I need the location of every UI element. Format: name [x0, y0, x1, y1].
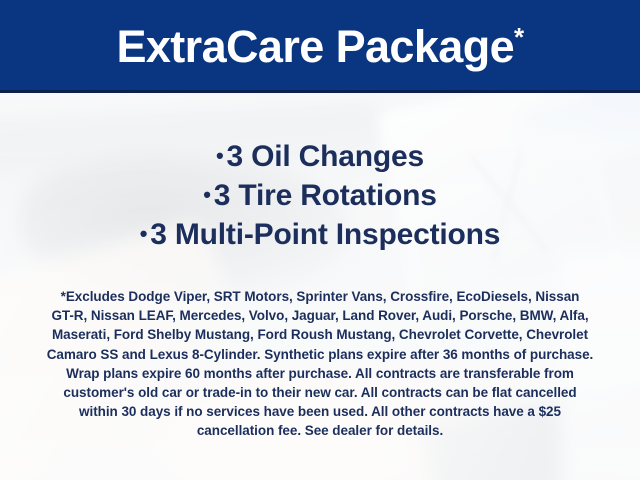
disclaimer-line: Maserati, Ford Shelby Mustang, Ford Rous…	[22, 325, 618, 344]
header-divider	[0, 90, 640, 93]
disclaimer-line: *Excludes Dodge Viper, SRT Motors, Sprin…	[22, 287, 618, 306]
bullet-icon: •	[140, 221, 148, 246]
benefit-item-label: 3 Multi-Point Inspections	[150, 218, 500, 251]
disclaimer-line: cancellation fee. See dealer for details…	[22, 421, 618, 440]
page-title-asterisk: *	[514, 22, 524, 52]
bullet-icon: •	[203, 182, 211, 207]
disclaimer-line: GT-R, Nissan LEAF, Mercedes, Volvo, Jagu…	[22, 306, 618, 325]
benefit-item-label: 3 Tire Rotations	[214, 179, 437, 212]
disclaimer-line: Camaro SS and Lexus 8-Cylinder. Syntheti…	[22, 345, 618, 364]
header-banner: ExtraCare Package*	[0, 0, 640, 90]
extracare-promo-card: ExtraCare Package* •3 Oil Changes •3 Tir…	[0, 0, 640, 480]
disclaimer-line: customer's old car or trade-in to their …	[22, 383, 618, 402]
benefits-list: •3 Oil Changes •3 Tire Rotations •3 Mult…	[0, 138, 640, 255]
disclaimer-text: *Excludes Dodge Viper, SRT Motors, Sprin…	[22, 287, 618, 441]
benefit-item-label: 3 Oil Changes	[227, 140, 424, 173]
benefit-item-multi-point-inspections: •3 Multi-Point Inspections	[0, 216, 640, 255]
benefit-item-tire-rotations: •3 Tire Rotations	[0, 177, 640, 216]
disclaimer-line: within 30 days if no services have been …	[22, 402, 618, 421]
bullet-icon: •	[216, 143, 224, 168]
page-title: ExtraCare Package*	[116, 24, 523, 69]
disclaimer-line: Wrap plans expire 60 months after purcha…	[22, 364, 618, 383]
page-title-text: ExtraCare Package	[116, 21, 514, 72]
benefit-item-oil-changes: •3 Oil Changes	[0, 138, 640, 177]
